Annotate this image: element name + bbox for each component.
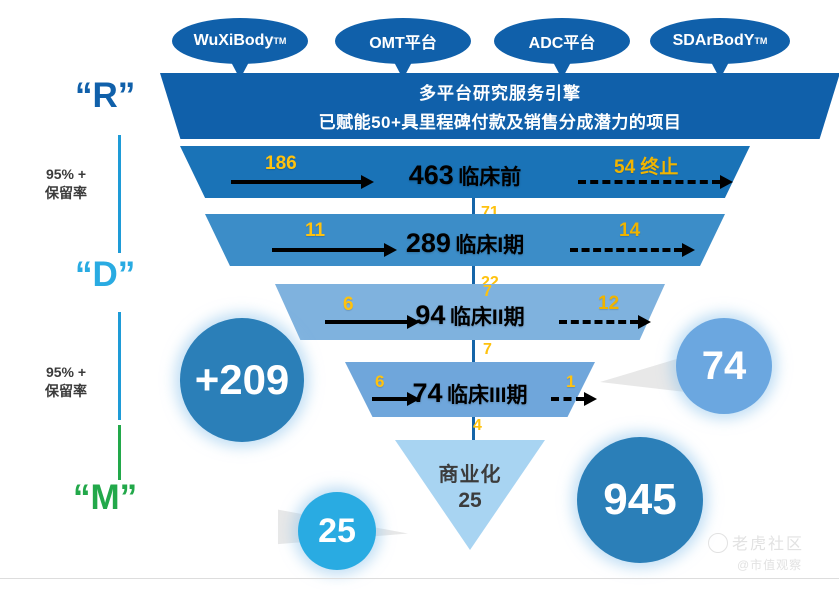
rail-label-m: “M” <box>73 478 137 518</box>
callout-circle-plus209[interactable]: +209 <box>180 318 304 442</box>
commercial-label: 商业化 25 <box>395 458 545 513</box>
outflow-label-preclinical: 54 终止 <box>614 152 678 179</box>
funnel-row-phase1-label: 289 临床I期 <box>205 228 725 259</box>
platform-bubble-sdarbody[interactable]: SDArBodYTM <box>650 18 790 64</box>
rail-line-rd <box>118 135 121 253</box>
outflow-label-phase2: 12 <box>598 293 619 315</box>
callout-circle-945[interactable]: 945 <box>577 437 703 563</box>
callout-circle-25[interactable]: 25 <box>298 492 376 570</box>
retention-top: 95% + 保留率 <box>26 165 106 203</box>
retention-bottom-pct: 95% + <box>26 363 106 382</box>
platform-bubble-label: SDArBodY <box>673 32 755 50</box>
callout-value: 25 <box>318 512 356 551</box>
callout-value: +209 <box>195 356 290 404</box>
watermark-name: 老虎社区 <box>732 530 804 554</box>
engine-banner: 多平台研究服务引擎 已赋能50+具里程碑付款及销售分成潜力的项目 <box>160 73 839 139</box>
infographic-canvas: WuXiBodyTM OMT平台 ADC平台 SDArBodYTM 多平台研究服… <box>0 0 839 590</box>
callout-circle-74[interactable]: 74 <box>676 318 772 414</box>
inflow-label-phase2: 6 <box>343 294 354 316</box>
banner-line-1: 多平台研究服务引擎 <box>160 79 839 104</box>
inflow-label-phase1: 11 <box>305 220 325 242</box>
trademark-icon: TM <box>754 36 767 46</box>
platform-bubble-label: OMT平台 <box>369 29 437 53</box>
commercial-count: 25 <box>395 489 545 513</box>
retention-top-text: 保留率 <box>26 184 106 203</box>
platform-bubble-adc[interactable]: ADC平台 <box>494 18 630 64</box>
stage-count: 289 <box>406 228 451 258</box>
stage-name: 临床II期 <box>450 306 525 329</box>
platform-bubble-label: ADC平台 <box>529 29 596 53</box>
platform-bubble-wuxibody[interactable]: WuXiBodyTM <box>172 18 308 64</box>
callout-value: 945 <box>603 475 676 525</box>
watermark-handle-wrap: @市值观察 <box>737 556 802 573</box>
stage-connector-3 <box>472 340 475 365</box>
outflow-label-phase1: 14 <box>619 220 640 242</box>
retention-bottom: 95% + 保留率 <box>26 363 106 401</box>
rail-label-r: “R” <box>75 76 135 116</box>
outflow-label-phase3: 1 <box>566 372 575 392</box>
callout-value: 74 <box>702 344 747 389</box>
stage-connector-3-label: 7 <box>483 341 492 359</box>
platform-bubble-omt[interactable]: OMT平台 <box>335 18 471 64</box>
platform-bubble-label: WuXiBody <box>194 32 274 50</box>
bottom-divider <box>0 578 839 579</box>
trademark-icon: TM <box>273 36 286 46</box>
retention-top-pct: 95% + <box>26 165 106 184</box>
stage-count: 463 <box>409 160 454 190</box>
inflow-label-preclinical: 186 <box>265 153 297 175</box>
rail-label-d: “D” <box>75 255 135 295</box>
stage-name: 临床前 <box>458 166 521 189</box>
commercial-title: 商业化 <box>395 458 545 487</box>
watermark-handle: @市值观察 <box>737 556 802 573</box>
inflow-label-phase3: 6 <box>375 372 384 392</box>
watermark: 老虎社区 <box>732 530 804 554</box>
watermark-ring-icon <box>708 533 728 553</box>
stage-name: 临床I期 <box>455 234 524 257</box>
rail-line-dm-lower <box>118 425 121 480</box>
stage-connector-4-label: 4 <box>473 417 482 435</box>
retention-bottom-text: 保留率 <box>26 382 106 401</box>
stage-connector-3-label-top: 7 <box>483 283 492 301</box>
banner-line-2: 已赋能50+具里程碑付款及销售分成潜力的项目 <box>160 108 839 133</box>
stage-name: 临床III期 <box>447 384 528 407</box>
rail-line-dm-upper <box>118 312 121 420</box>
